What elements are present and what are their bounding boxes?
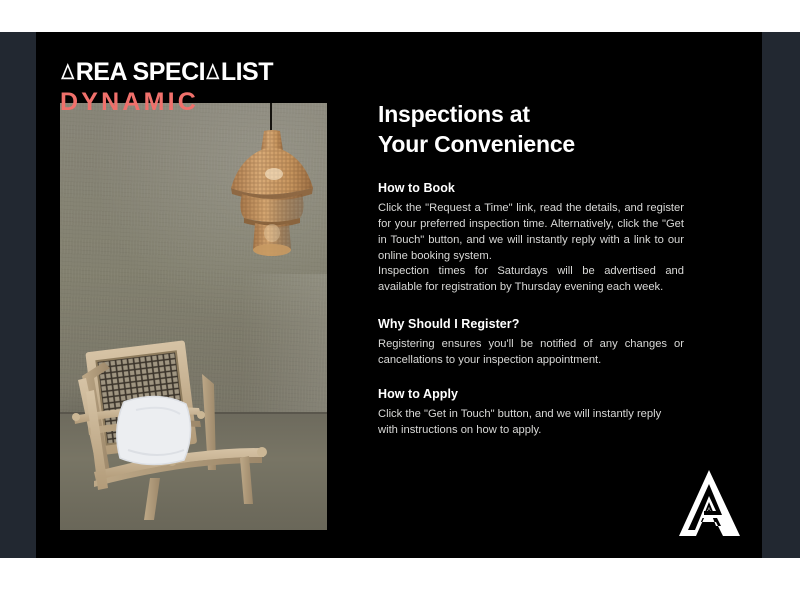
section-paragraph-how-to-apply-1: Click the "Get in Touch" button, and we … bbox=[378, 407, 684, 439]
section-heading-why-should-i-register: Why Should I Register? bbox=[378, 317, 684, 331]
lamp-shade bbox=[220, 129, 324, 269]
brand-lockup: REA SPECILIST DYNAMIC bbox=[60, 60, 330, 115]
headline-line-1: Inspections at bbox=[378, 101, 530, 127]
section-how-to-apply: How to Apply Click the "Get in Touch" bu… bbox=[378, 387, 684, 439]
page-title: Inspections at Your Convenience bbox=[378, 100, 684, 160]
triangle-a-glyph bbox=[60, 62, 76, 80]
rattan-pendant-lamp bbox=[220, 103, 324, 303]
slide-stage: REA SPECILIST DYNAMIC bbox=[0, 0, 800, 600]
headline-line-2: Your Convenience bbox=[378, 131, 575, 157]
section-paragraph-how-to-book-1: Click the "Request a Time" link, read th… bbox=[378, 201, 684, 265]
brand-line-area-specialist: REA SPECILIST bbox=[60, 60, 330, 85]
brand-wordmark: REA SPECILIST DYNAMIC bbox=[60, 60, 330, 115]
hero-photo bbox=[60, 103, 327, 530]
section-why-should-i-register: Why Should I Register? Registering ensur… bbox=[378, 317, 684, 369]
triangle-a-glyph-2 bbox=[205, 62, 221, 80]
copy-column: Inspections at Your Convenience How to B… bbox=[378, 100, 684, 439]
section-how-to-book: How to Book Click the "Request a Time" l… bbox=[378, 181, 684, 296]
section-heading-how-to-apply: How to Apply bbox=[378, 387, 684, 401]
section-heading-how-to-book: How to Book bbox=[378, 181, 684, 195]
section-paragraph-how-to-book-2: Inspection times for Saturdays will be a… bbox=[378, 264, 684, 296]
brand-line-dynamic: DYNAMIC bbox=[60, 90, 330, 115]
section-paragraph-why-should-i-register-1: Registering ensures you'll be notified o… bbox=[378, 337, 684, 369]
oak-cane-lounge-chair bbox=[64, 332, 299, 522]
area-specialist-a-mark-icon bbox=[676, 468, 742, 538]
